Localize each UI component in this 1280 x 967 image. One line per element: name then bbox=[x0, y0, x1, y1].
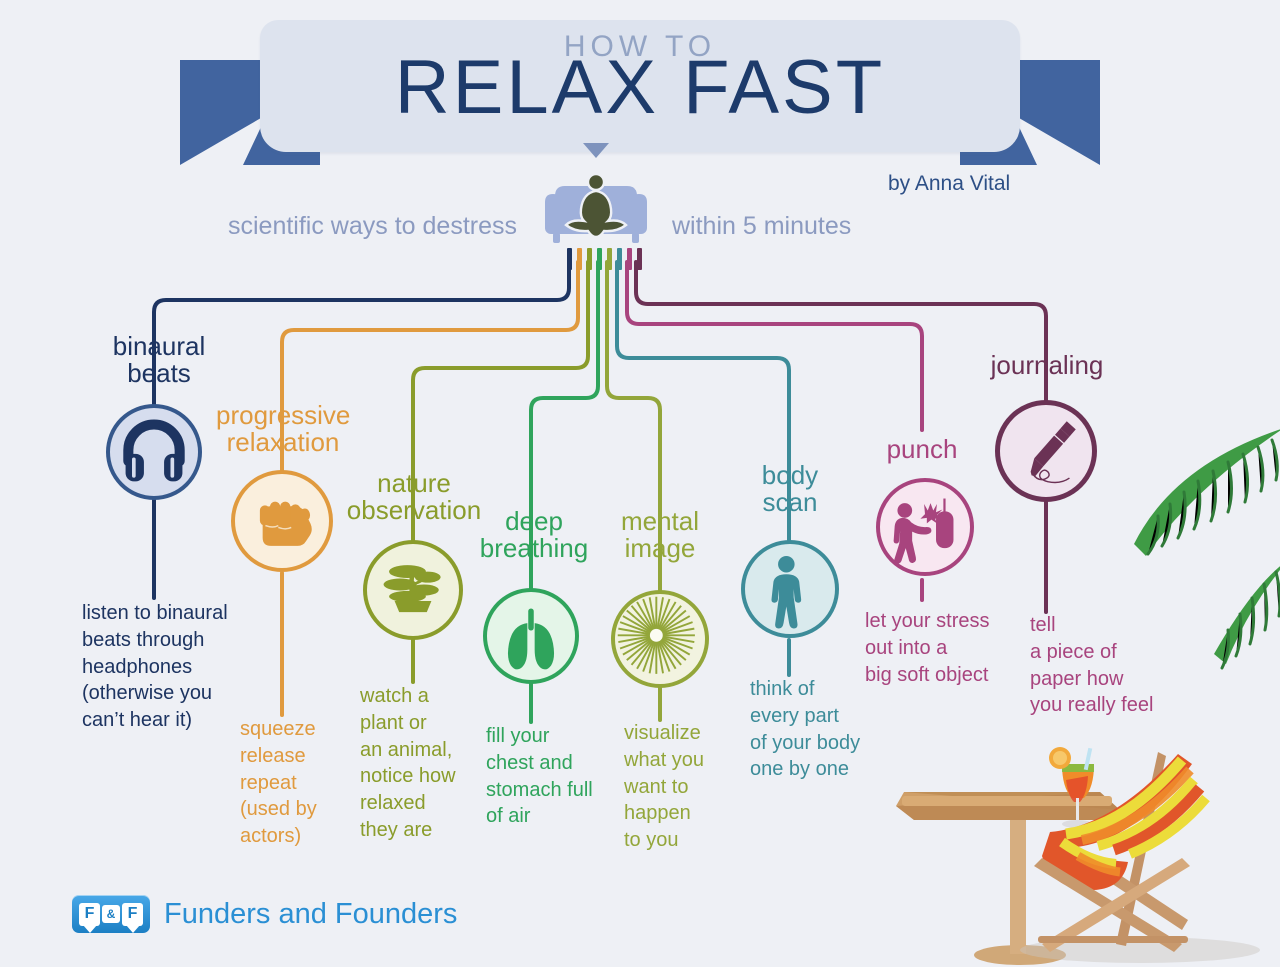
stub-punch bbox=[627, 248, 632, 270]
human-body-icon bbox=[745, 544, 835, 634]
fist-icon bbox=[235, 474, 329, 568]
footer-brand[interactable]: F & F Funders and Founders bbox=[72, 895, 457, 933]
page-title: RELAX FAST bbox=[260, 50, 1020, 126]
stub-journaling bbox=[637, 248, 642, 270]
icon-circle-nature-observation[interactable] bbox=[363, 540, 463, 640]
label-mental-image: mental image bbox=[604, 508, 716, 562]
label-nature-observation: nature observation bbox=[338, 470, 490, 524]
stub-mental-image bbox=[607, 248, 612, 270]
label-progressive-relaxation: progressive relaxation bbox=[216, 402, 350, 456]
label-journaling: journaling bbox=[982, 352, 1112, 379]
infographic-canvas: HOW TO RELAX FAST by Anna Vital scientif… bbox=[0, 0, 1280, 967]
label-progressive-relaxation-line1: progressive bbox=[216, 402, 350, 429]
logo-letter-right: F bbox=[122, 903, 143, 926]
radial-burst-icon bbox=[615, 594, 705, 684]
lungs-icon bbox=[487, 592, 575, 680]
label-mental-image-line2: image bbox=[604, 535, 716, 562]
label-deep-breathing: deep breathing bbox=[470, 508, 598, 562]
striped-deck-chair bbox=[1020, 752, 1260, 963]
stub-nature-observation bbox=[587, 248, 592, 270]
meditation-chair-icon bbox=[541, 170, 651, 250]
pen-writing-icon bbox=[1000, 405, 1092, 497]
connector-punch bbox=[627, 262, 922, 430]
connector-journaling bbox=[636, 262, 1046, 400]
funders-founders-logo-icon: F & F bbox=[72, 895, 150, 933]
body-deep-breathing: fill your chest and stomach full of air bbox=[486, 723, 646, 830]
punching-bag-icon bbox=[880, 482, 970, 572]
icon-circle-binaural-beats[interactable] bbox=[106, 404, 202, 500]
stub-deep-breathing bbox=[597, 248, 602, 270]
icon-circle-journaling[interactable] bbox=[995, 400, 1097, 502]
stub-progressive-relaxation bbox=[577, 248, 582, 270]
label-deep-breathing-line2: breathing bbox=[470, 535, 598, 562]
icon-circle-deep-breathing[interactable] bbox=[483, 588, 579, 684]
connector-binaural-beats bbox=[154, 262, 569, 404]
icon-circle-punch[interactable] bbox=[876, 478, 974, 576]
bonsai-tree-icon bbox=[367, 544, 459, 636]
beach-scene-decor bbox=[890, 700, 1280, 967]
icon-circle-mental-image[interactable] bbox=[611, 590, 709, 688]
stub-body-scan bbox=[617, 248, 622, 270]
label-punch-line1: punch bbox=[870, 436, 974, 463]
author-byline: by Anna Vital bbox=[888, 172, 1010, 196]
label-binaural-beats-line2: beats bbox=[104, 360, 214, 387]
logo-letter-left: F bbox=[79, 903, 100, 926]
label-binaural-beats-line1: binaural bbox=[104, 333, 214, 360]
headphones-icon bbox=[110, 408, 198, 496]
label-punch: punch bbox=[870, 436, 974, 463]
label-nature-observation-line1: nature bbox=[338, 470, 490, 497]
label-binaural-beats: binaural beats bbox=[104, 333, 214, 387]
label-progressive-relaxation-line2: relaxation bbox=[216, 429, 350, 456]
label-deep-breathing-line1: deep bbox=[470, 508, 598, 535]
icon-circle-body-scan[interactable] bbox=[741, 540, 839, 638]
label-body-scan: body scan bbox=[742, 462, 838, 516]
body-binaural-beats: listen to binaural beats through headpho… bbox=[82, 600, 267, 734]
logo-ampersand: & bbox=[102, 905, 120, 923]
icon-circle-progressive-relaxation[interactable] bbox=[231, 470, 333, 572]
title-banner: HOW TO RELAX FAST bbox=[180, 8, 1100, 168]
label-journaling-line1: journaling bbox=[982, 352, 1112, 379]
label-body-scan-line1: body bbox=[742, 462, 838, 489]
label-mental-image-line1: mental bbox=[604, 508, 716, 535]
stub-binaural-beats bbox=[567, 248, 572, 270]
subtitle-left: scientific ways to destress bbox=[228, 212, 517, 241]
subtitle-right: within 5 minutes bbox=[672, 212, 851, 241]
ribbon-body: HOW TO RELAX FAST bbox=[260, 20, 1020, 152]
footer-brand-name: Funders and Founders bbox=[164, 898, 457, 931]
label-body-scan-line2: scan bbox=[742, 489, 838, 516]
down-arrow-icon bbox=[583, 143, 609, 158]
label-nature-observation-line2: observation bbox=[338, 497, 490, 524]
